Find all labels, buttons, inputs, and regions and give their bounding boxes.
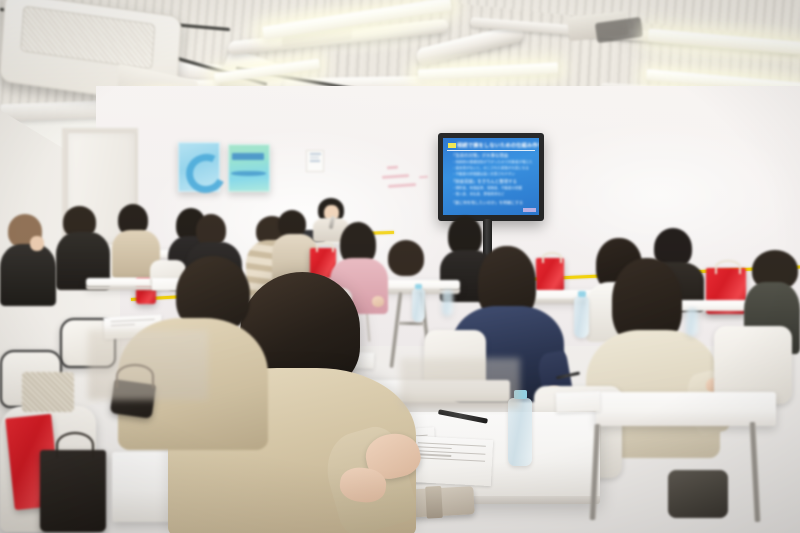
slide-bullet-1: 「生前の対策」が大事な理由: [451, 153, 508, 159]
notice-sign: [306, 150, 324, 172]
slide-bullet-3: ・遺言書がないと、のこされた家族が大変になる: [452, 166, 529, 171]
slide-bullet-2: ・相続税の基礎控除が下がったので対象者が増えた: [452, 160, 533, 165]
red-shopping-bag-mid: [536, 258, 564, 292]
handout-2[interactable]: [409, 436, 493, 486]
table-cross-brace: [398, 322, 424, 325]
water-bottle-mid-right[interactable]: [574, 296, 589, 338]
slide-bullet-8: 「誰に何を残したいのか」を明確にする: [451, 200, 523, 206]
slide-bullet-7: ・借入金、未払金、葬儀費用など: [452, 192, 505, 197]
water-bottle-mid[interactable]: [412, 288, 425, 322]
attendee-a6-hand: [372, 296, 384, 307]
table-leg-fg-2: [749, 422, 760, 522]
black-handbag: [40, 450, 106, 532]
attendee-a1-body: [0, 244, 56, 306]
slide-bullet-4: ・不動産の評価額は高く計算されやすい: [452, 172, 515, 177]
bag-under-desk: [668, 470, 728, 518]
floor-mid: [400, 358, 520, 408]
attendee-a1-face: [30, 236, 44, 251]
slide-bullet-5: 「財産目録」をきちんと整理する: [451, 179, 517, 185]
mesh-tote-bag: [22, 372, 74, 412]
slide-logo: [523, 208, 536, 212]
slide-title: 相続で損をしないための仕組み作り: [457, 142, 539, 149]
desk-right-front: [596, 392, 776, 426]
water-bottle-far[interactable]: [442, 290, 453, 316]
monitor-screen: 相続で損をしないための仕組み作り 「生前の対策」が大事な理由 ・相続税の基礎控除…: [443, 138, 539, 215]
slide-bullet-6: ・預貯金、有価証券、保険金、不動産の把握: [452, 186, 522, 191]
artwork-green: [228, 144, 270, 192]
slide-title-marker: [448, 143, 456, 148]
presentation-monitor[interactable]: 相続で損をしないための仕組み作り 「生前の対策」が大事な理由 ・相続税の基礎控除…: [438, 133, 544, 221]
water-bottle-foreground[interactable]: [508, 398, 532, 466]
classroom-photo: 相続で損をしないための仕組み作り 「生前の対策」が大事な理由 ・相続税の基礎控除…: [0, 0, 800, 533]
artwork-blue: [178, 142, 220, 192]
water-bottle-far-right[interactable]: [686, 308, 698, 336]
floor: [88, 330, 208, 400]
slide-rule: [447, 150, 535, 151]
handout-5[interactable]: [556, 391, 601, 413]
attendee-a17-hair: [388, 240, 424, 276]
